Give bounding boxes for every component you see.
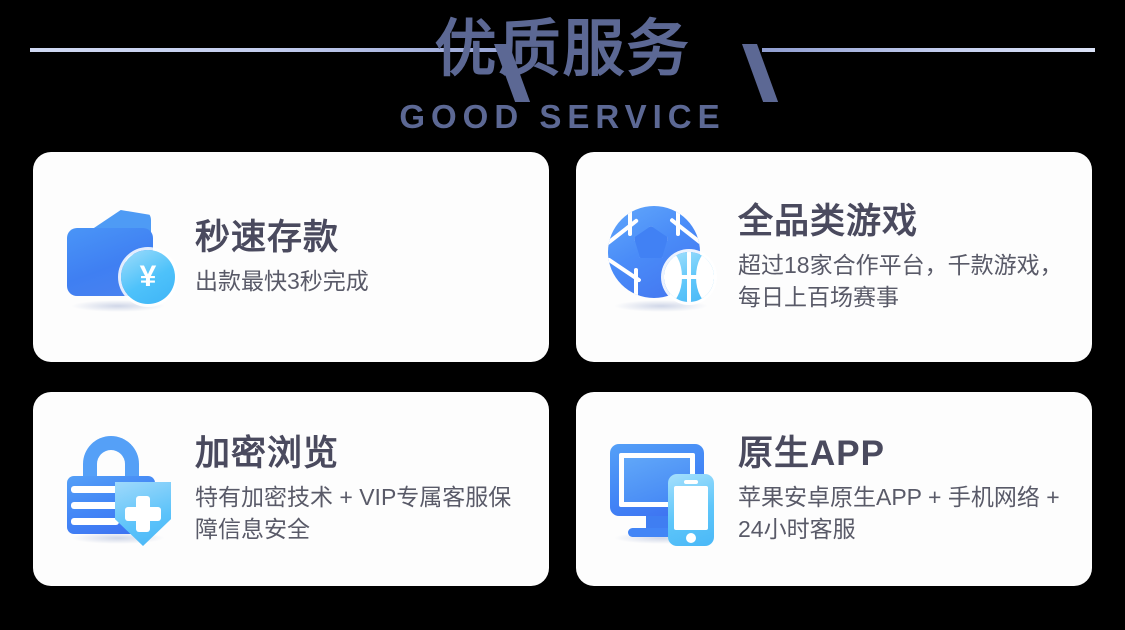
banner-header: 优质服务 GOOD SERVICE (0, 0, 1125, 148)
lock-slot-icon (71, 518, 119, 525)
feature-card-encrypted-browsing[interactable]: 加密浏览 特有加密技术 + VIP专属客服保障信息安全 (33, 392, 549, 586)
phone-speaker-icon (684, 480, 698, 484)
icon-shadow (614, 300, 708, 312)
feature-card-all-games[interactable]: 全品类游戏 超过18家合作平台，千款游戏，每日上百场赛事 (576, 152, 1092, 362)
card-subtitle: 特有加密技术 + VIP专属客服保障信息安全 (195, 481, 525, 545)
phone-home-button-icon (686, 533, 696, 543)
card-title: 秒速存款 (195, 217, 369, 259)
card-subtitle: 超过18家合作平台，千款游戏，每日上百场赛事 (738, 249, 1076, 313)
card-title: 原生APP (738, 433, 1068, 475)
feature-card-grid: ¥ 秒速存款 出款最快3秒完成 (33, 152, 1092, 586)
card-text-block: 全品类游戏 超过18家合作平台，千款游戏，每日上百场赛事 (738, 201, 1076, 313)
page-title: 优质服务 (0, 12, 1125, 88)
basketball-icon (664, 252, 714, 302)
wallet-yuan-icon: ¥ (63, 198, 181, 316)
card-subtitle: 出款最快3秒完成 (195, 265, 369, 297)
card-title: 加密浏览 (195, 433, 525, 475)
yuan-coin-icon: ¥ (121, 250, 175, 304)
feature-card-instant-deposit[interactable]: ¥ 秒速存款 出款最快3秒完成 (33, 152, 549, 362)
plus-icon (125, 507, 161, 521)
card-subtitle: 苹果安卓原生APP + 手机网络 + 24小时客服 (738, 481, 1068, 545)
lock-slot-icon (71, 486, 119, 493)
card-title: 全品类游戏 (738, 201, 1076, 243)
page-subtitle: GOOD SERVICE (0, 98, 1125, 136)
lock-shield-icon (63, 430, 181, 548)
monitor-phone-icon (606, 430, 724, 548)
feature-card-native-app[interactable]: 原生APP 苹果安卓原生APP + 手机网络 + 24小时客服 (576, 392, 1092, 586)
phone-screen-icon (674, 486, 708, 530)
card-text-block: 加密浏览 特有加密技术 + VIP专属客服保障信息安全 (195, 433, 525, 545)
card-text-block: 原生APP 苹果安卓原生APP + 手机网络 + 24小时客服 (738, 433, 1068, 545)
soccer-basketball-icon (606, 198, 724, 316)
promo-banner: 优质服务 GOOD SERVICE ¥ 秒速存款 出款最快3秒完成 (0, 0, 1125, 630)
card-text-block: 秒速存款 出款最快3秒完成 (195, 217, 369, 297)
